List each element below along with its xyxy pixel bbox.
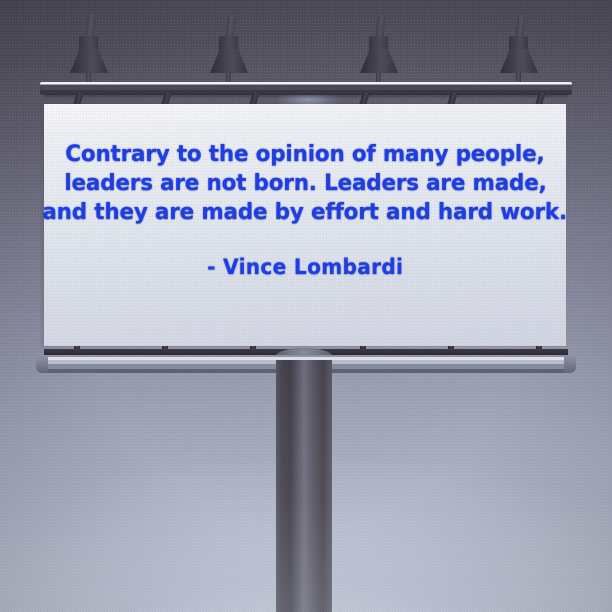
beam-cap-left	[36, 355, 48, 373]
top-rail-shadow	[44, 94, 568, 99]
billboard-copy: Contrary to the opinion of many people, …	[44, 104, 566, 346]
quote-line-2: leaders are not born. Leaders are made,	[64, 169, 546, 198]
quote-line-3: and they are made by effort and hard wor…	[43, 198, 568, 227]
billboard: Contrary to the opinion of many people, …	[0, 0, 612, 612]
billboard-panel: Contrary to the opinion of many people, …	[44, 104, 566, 346]
quote-attribution: - Vince Lombardi	[207, 255, 403, 279]
quote-line-1: Contrary to the opinion of many people,	[65, 140, 544, 169]
support-column-highlight	[276, 360, 332, 612]
beam-cap-right	[564, 355, 576, 373]
billboard-scene: Contrary to the opinion of many people, …	[0, 0, 612, 612]
